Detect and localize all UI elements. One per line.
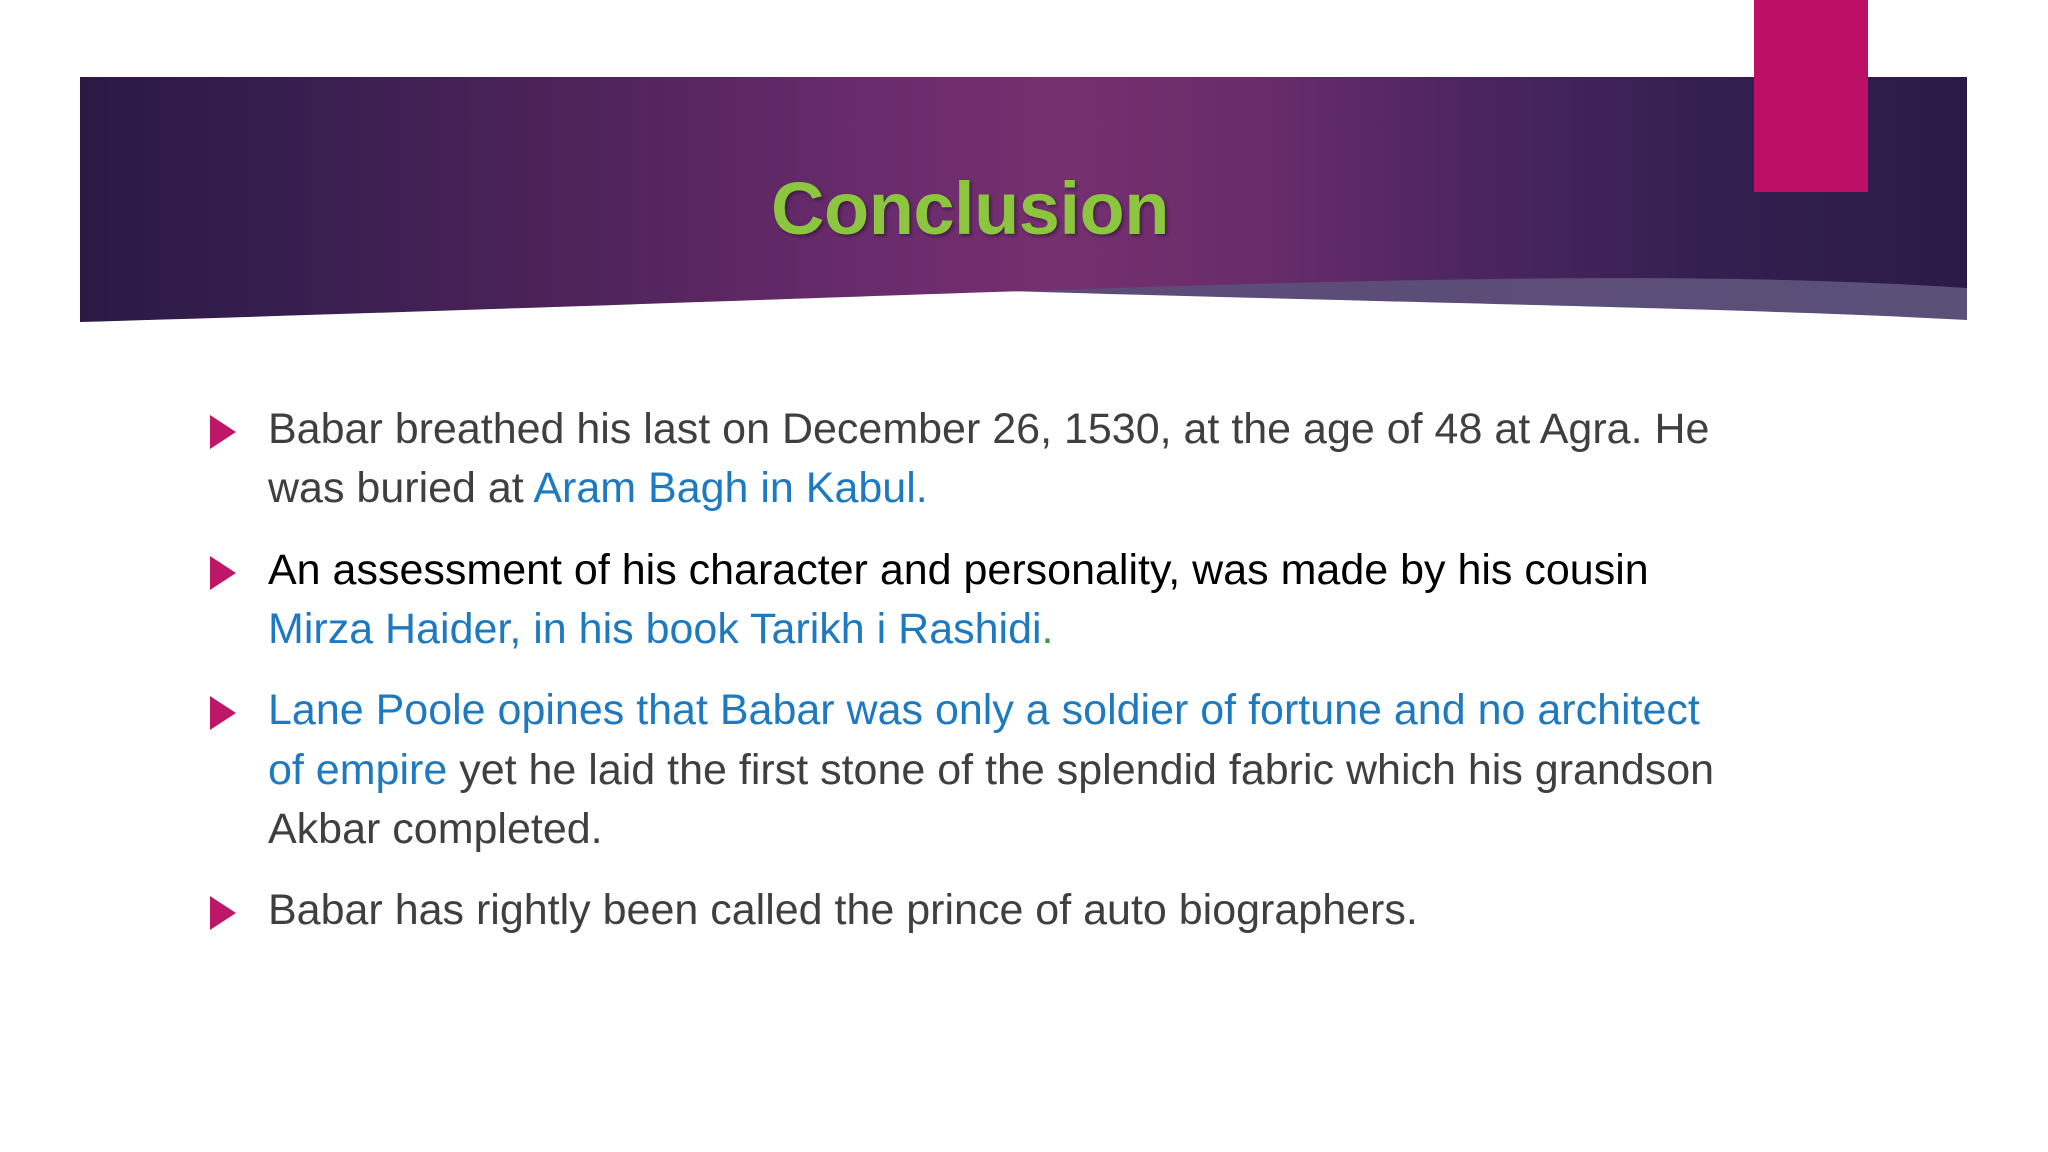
list-item-text: Lane Poole opines that Babar was only a … xyxy=(200,681,1720,859)
triangle-right-icon xyxy=(210,696,236,730)
bullet-1-segment-1: Babar breathed his last on December 26, … xyxy=(268,405,1709,512)
bullet-2-segment-3: . xyxy=(1042,605,1054,653)
list-item-text: Babar breathed his last on December 26, … xyxy=(200,400,1720,519)
bullet-list: Babar breathed his last on December 26, … xyxy=(200,400,1720,941)
triangle-right-icon xyxy=(210,556,236,590)
bullet-1-link[interactable]: Aram Bagh in Kabul. xyxy=(533,464,927,512)
slide-canvas: Conclusion Babar breathed his last on De… xyxy=(0,0,2048,1152)
bullet-2-segment-1: An assessment of his character and perso… xyxy=(268,546,1649,594)
list-item: An assessment of his character and perso… xyxy=(200,541,1720,660)
list-item-text: Babar has rightly been called the prince… xyxy=(200,881,1720,940)
page-title: Conclusion xyxy=(80,172,1860,246)
list-item-text: An assessment of his character and perso… xyxy=(200,541,1720,660)
triangle-right-icon xyxy=(210,896,236,930)
list-item: Babar breathed his last on December 26, … xyxy=(200,400,1720,519)
bullet-3-segment-2: yet he laid the first stone of the splen… xyxy=(268,746,1714,853)
magenta-accent-bar xyxy=(1754,0,1868,192)
list-item: Lane Poole opines that Babar was only a … xyxy=(200,681,1720,859)
list-item: Babar has rightly been called the prince… xyxy=(200,881,1720,940)
bullet-4-segment-1: Babar has rightly been called the prince… xyxy=(268,886,1418,934)
bullet-2-link[interactable]: Mirza Haider, in his book Tarikh i Rashi… xyxy=(268,605,1042,653)
triangle-right-icon xyxy=(210,415,236,449)
